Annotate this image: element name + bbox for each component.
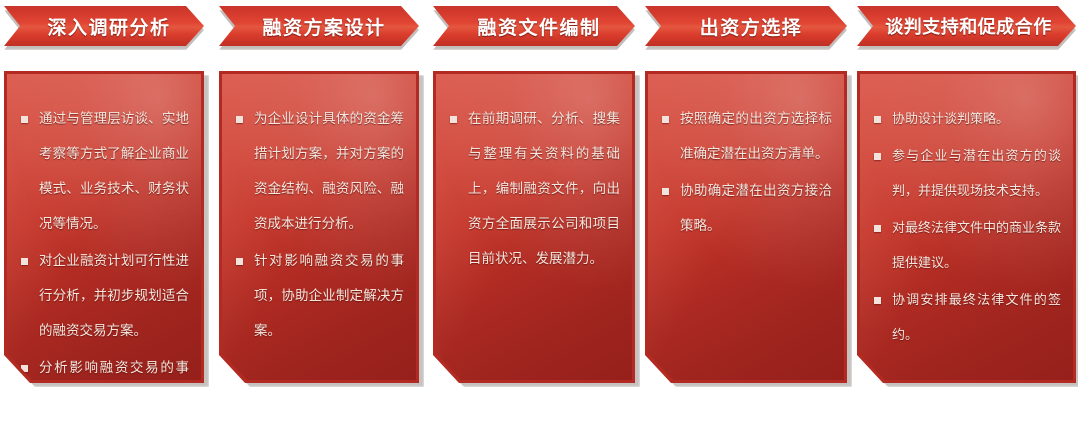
square-bullet-icon [662, 116, 669, 123]
list-item: 按照确定的出资方选择标准确定潜在出资方清单。 [658, 102, 832, 172]
square-bullet-icon [874, 297, 881, 304]
list-item-text: 对最终法律文件中的商业条款提供建议。 [892, 221, 1061, 271]
square-bullet-icon [450, 116, 457, 123]
stage-panel-inner-3: 在前期调研、分析、搜集与整理有关资料的基础上，编制融资文件，向出资方全面展示公司… [436, 74, 632, 380]
list-item: 针对影响融资交易的事项，协助企业制定解决方案。 [232, 244, 404, 349]
stage-column-2: 融资方案设计 为企业设计具体的资金筹措计划方案，并对方案的资金结构、融资风险、融… [219, 0, 419, 422]
square-bullet-icon [21, 116, 28, 123]
stage-item-list-1: 通过与管理层访谈、实地考察等方式了解企业商业模式、业务技术、财务状况等情况。 对… [7, 74, 201, 380]
stage-item-list-4: 按照确定的出资方选择标准确定潜在出资方清单。 协助确定潜在出资方接洽策略。 [648, 74, 844, 244]
square-bullet-icon [662, 188, 669, 195]
list-item-text: 协助确定潜在出资方接洽策略。 [680, 183, 832, 234]
stage-panel-inner-4: 按照确定的出资方选择标准确定潜在出资方清单。 协助确定潜在出资方接洽策略。 [648, 74, 844, 380]
stage-header-label-2: 融资方案设计 [252, 13, 385, 40]
square-bullet-icon [236, 258, 243, 265]
square-bullet-icon [874, 153, 881, 160]
stage-panel-inner-5: 协助设计谈判策略。 参与企业与潜在出资方的谈判，并提供现场技术支持。 对最终法律… [860, 74, 1073, 380]
square-bullet-icon [236, 116, 243, 123]
stage-panel-inner-2: 为企业设计具体的资金筹措计划方案，并对方案的资金结构、融资风险、融资成本进行分析… [222, 74, 416, 380]
list-item: 分析影响融资交易的事项。 [17, 351, 189, 380]
list-item: 对企业融资计划可行性进行分析，并初步规划适合的融资交易方案。 [17, 244, 189, 349]
stage-header-5[interactable]: 谈判支持和促成合作 [857, 6, 1076, 46]
square-bullet-icon [874, 116, 881, 123]
list-item-text: 为企业设计具体的资金筹措计划方案，并对方案的资金结构、融资风险、融资成本进行分析… [254, 111, 404, 232]
list-item-text: 分析影响融资交易的事项。 [39, 360, 189, 380]
list-item: 为企业设计具体的资金筹措计划方案，并对方案的资金结构、融资风险、融资成本进行分析… [232, 102, 404, 242]
list-item: 协助设计谈判策略。 [870, 102, 1061, 137]
list-item: 协助确定潜在出资方接洽策略。 [658, 174, 832, 244]
list-item-text: 协调安排最终法律文件的签约。 [892, 293, 1061, 343]
stage-item-list-5: 协助设计谈判策略。 参与企业与潜在出资方的谈判，并提供现场技术支持。 对最终法律… [860, 74, 1073, 353]
stage-header-1[interactable]: 深入调研分析 [4, 6, 204, 46]
list-item: 参与企业与潜在出资方的谈判，并提供现场技术支持。 [870, 139, 1061, 209]
stage-column-5: 谈判支持和促成合作 协助设计谈判策略。 参与企业与潜在出资方的谈判，并提供现场技… [857, 0, 1076, 422]
stage-item-list-2: 为企业设计具体的资金筹措计划方案，并对方案的资金结构、融资风险、融资成本进行分析… [222, 74, 416, 349]
square-bullet-icon [21, 365, 28, 372]
stage-panel-1: 通过与管理层访谈、实地考察等方式了解企业商业模式、业务技术、财务状况等情况。 对… [4, 71, 204, 383]
list-item-text: 参与企业与潜在出资方的谈判，并提供现场技术支持。 [892, 149, 1061, 199]
list-item-text: 协助设计谈判策略。 [892, 112, 1009, 127]
list-item-text: 在前期调研、分析、搜集与整理有关资料的基础上，编制融资文件，向出资方全面展示公司… [468, 111, 620, 267]
stage-header-label-1: 深入调研分析 [37, 13, 170, 40]
list-item-text: 通过与管理层访谈、实地考察等方式了解企业商业模式、业务技术、财务状况等情况。 [39, 111, 189, 232]
square-bullet-icon [874, 225, 881, 232]
stage-header-label-3: 融资文件编制 [467, 13, 600, 40]
stage-item-list-3: 在前期调研、分析、搜集与整理有关资料的基础上，编制融资文件，向出资方全面展示公司… [436, 74, 632, 277]
list-item-text: 针对影响融资交易的事项，协助企业制定解决方案。 [254, 253, 404, 339]
stage-column-3: 融资文件编制 在前期调研、分析、搜集与整理有关资料的基础上，编制融资文件，向出资… [433, 0, 635, 422]
list-item: 协调安排最终法律文件的签约。 [870, 283, 1061, 353]
list-item: 对最终法律文件中的商业条款提供建议。 [870, 211, 1061, 281]
stage-header-2[interactable]: 融资方案设计 [219, 6, 419, 46]
stage-header-4[interactable]: 出资方选择 [645, 6, 847, 46]
stage-header-label-4: 出资方选择 [690, 13, 803, 40]
list-item: 在前期调研、分析、搜集与整理有关资料的基础上，编制融资文件，向出资方全面展示公司… [446, 102, 620, 277]
stage-column-4: 出资方选择 按照确定的出资方选择标准确定潜在出资方清单。 协助确定潜在出资方接洽… [645, 0, 847, 422]
list-item-text: 按照确定的出资方选择标准确定潜在出资方清单。 [680, 111, 832, 162]
stage-column-1: 深入调研分析 通过与管理层访谈、实地考察等方式了解企业商业模式、业务技术、财务状… [4, 0, 204, 422]
process-diagram: 深入调研分析 通过与管理层访谈、实地考察等方式了解企业商业模式、业务技术、财务状… [0, 0, 1078, 422]
stage-panel-5: 协助设计谈判策略。 参与企业与潜在出资方的谈判，并提供现场技术支持。 对最终法律… [857, 71, 1076, 383]
stage-header-3[interactable]: 融资文件编制 [433, 6, 635, 46]
stage-panel-4: 按照确定的出资方选择标准确定潜在出资方清单。 协助确定潜在出资方接洽策略。 [645, 71, 847, 383]
list-item: 通过与管理层访谈、实地考察等方式了解企业商业模式、业务技术、财务状况等情况。 [17, 102, 189, 242]
stage-header-label-5: 谈判支持和促成合作 [881, 13, 1052, 39]
square-bullet-icon [21, 258, 28, 265]
stage-panel-2: 为企业设计具体的资金筹措计划方案，并对方案的资金结构、融资风险、融资成本进行分析… [219, 71, 419, 383]
list-item-text: 对企业融资计划可行性进行分析，并初步规划适合的融资交易方案。 [39, 253, 189, 339]
stage-panel-3: 在前期调研、分析、搜集与整理有关资料的基础上，编制融资文件，向出资方全面展示公司… [433, 71, 635, 383]
stage-panel-inner-1: 通过与管理层访谈、实地考察等方式了解企业商业模式、业务技术、财务状况等情况。 对… [7, 74, 201, 380]
